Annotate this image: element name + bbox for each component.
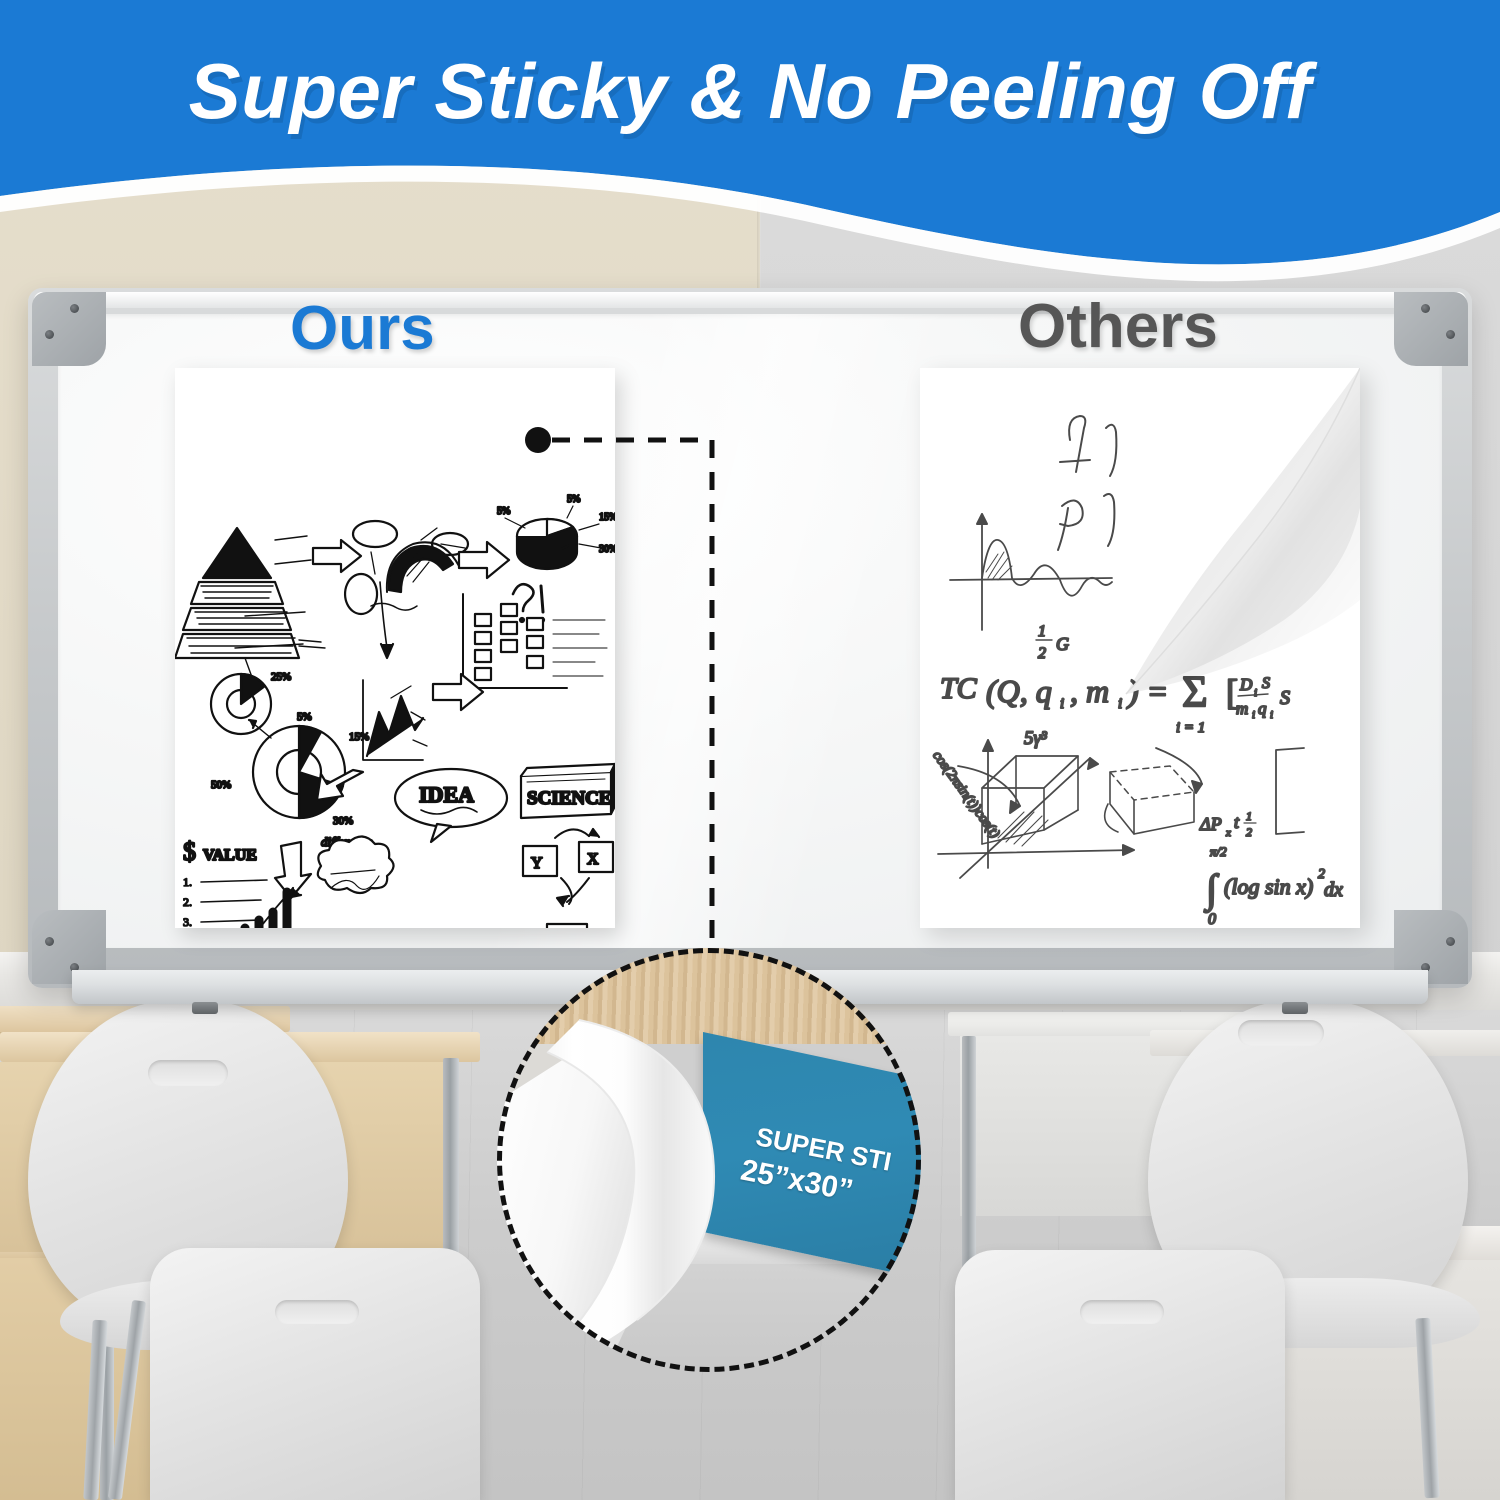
svg-text:S: S <box>1262 675 1270 692</box>
svg-text:i: i <box>1254 687 1257 699</box>
svg-text:5%: 5% <box>497 506 510 517</box>
label-others: Others <box>1018 296 1218 358</box>
svg-text:G: G <box>1056 634 1069 654</box>
ours-sheet: 5% 5% 15% 30% <box>175 368 615 928</box>
product-comparison-image: Ours Others <box>0 0 1500 1500</box>
svg-text:) =: ) = <box>1126 673 1168 709</box>
svg-text:5γ³: 5γ³ <box>1024 728 1047 749</box>
svg-text:5%: 5% <box>297 711 312 723</box>
svg-text:1: 1 <box>1246 809 1252 823</box>
peeling-sheet-roll <box>497 968 807 1368</box>
svg-text:$: $ <box>183 837 196 866</box>
svg-text:30%: 30% <box>333 815 353 827</box>
svg-text:t: t <box>1234 812 1240 832</box>
header-banner: Super Sticky & No Peeling Off <box>0 0 1500 300</box>
svg-text:2.: 2. <box>183 895 192 909</box>
math-handwriting: 1 2 G TC (Q, q i , m i ) = Σ n i = 1 [ D <box>920 368 1360 928</box>
svg-text:i: i <box>1252 709 1255 721</box>
svg-text:i: i <box>1270 709 1273 721</box>
svg-text:25%: 25% <box>271 671 291 683</box>
svg-text:i = 1: i = 1 <box>1176 720 1205 736</box>
svg-text:3.: 3. <box>183 915 192 928</box>
svg-text:, m: , m <box>1070 673 1109 709</box>
svg-text:m: m <box>1236 699 1248 718</box>
svg-text:15%: 15% <box>349 731 369 743</box>
frame-corner-top-left <box>32 292 106 366</box>
svg-text:(log sin x): (log sin x) <box>1224 874 1313 899</box>
svg-text:S: S <box>1280 687 1290 709</box>
doodle-artwork: 5% 5% 15% 30% <box>175 368 615 928</box>
svg-text:ΔP: ΔP <box>1199 814 1222 834</box>
svg-text:1: 1 <box>1038 623 1046 640</box>
svg-text:x: x <box>1225 827 1231 839</box>
others-sheet: 1 2 G TC (Q, q i , m i ) = Σ n i = 1 [ D <box>920 368 1360 928</box>
banner-title: Super Sticky & No Peeling Off <box>0 52 1500 130</box>
svg-text:(Q, q: (Q, q <box>986 673 1052 709</box>
svg-text:q: q <box>1258 699 1267 718</box>
svg-text:1.: 1. <box>183 875 192 889</box>
svg-text:15%: 15% <box>599 512 615 523</box>
svg-text:D: D <box>1239 675 1253 694</box>
svg-text:i: i <box>1060 696 1064 712</box>
svg-text:n: n <box>1188 652 1196 668</box>
svg-text:IDEA: IDEA <box>419 782 474 807</box>
magnified-detail-view: SUPER STI 25”x30” <box>497 948 921 1372</box>
frame-corner-top-right <box>1394 292 1468 366</box>
svg-text:5%: 5% <box>567 494 580 505</box>
svg-text:X: X <box>587 851 599 868</box>
svg-text:30%: 30% <box>599 544 615 555</box>
svg-text:cos(2πsin(t))cos(t): cos(2πsin(t))cos(t) <box>929 749 1002 842</box>
svg-text:Σ: Σ <box>1182 667 1208 716</box>
svg-text:50%: 50% <box>211 779 231 791</box>
svg-text:TC: TC <box>940 672 978 705</box>
svg-text:2: 2 <box>1246 825 1252 839</box>
svg-text:∫: ∫ <box>1203 866 1220 913</box>
svg-text:SCIENCE: SCIENCE <box>527 788 611 809</box>
svg-text:0: 0 <box>1208 911 1216 928</box>
svg-text:VALUE: VALUE <box>203 847 257 864</box>
label-ours: Ours <box>290 298 435 360</box>
svg-text:π/2: π/2 <box>1210 844 1227 859</box>
svg-text:dx: dx <box>1324 879 1343 901</box>
svg-text:Y: Y <box>531 855 543 872</box>
svg-text:2: 2 <box>1038 645 1046 662</box>
svg-text:i: i <box>1118 696 1122 712</box>
